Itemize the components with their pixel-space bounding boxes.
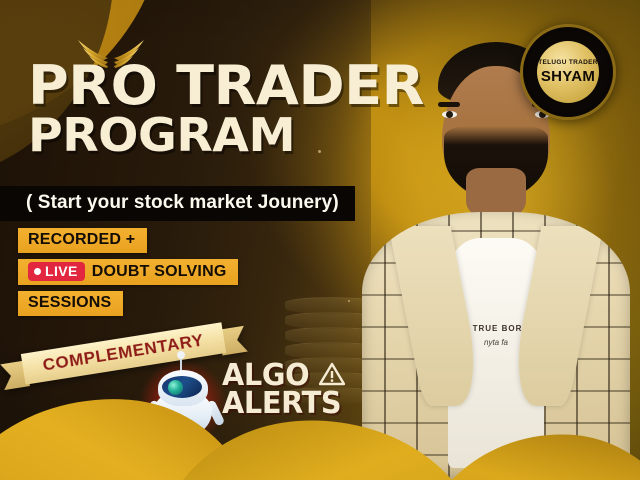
headline-block: PRO TRADER PROGRAM [28, 62, 412, 155]
subtitle-bar: ( Start your stock market Jounery) [0, 186, 355, 221]
badge-row: LIVE DOUBT SOLVING [18, 259, 238, 291]
robot-visor [162, 376, 202, 398]
badge-label: SESSIONS [28, 294, 111, 312]
badge-label: RECORDED + [28, 231, 135, 249]
live-pill: LIVE [28, 262, 85, 281]
alerts-label: ALERTS [222, 390, 341, 418]
brand-logo-badge[interactable]: TELUGU TRADER SHYAM [520, 24, 616, 120]
algo-alerts-line-2: ALERTS [222, 390, 346, 418]
feature-badge-list: RECORDED + LIVE DOUBT SOLVING SESSIONS [18, 228, 238, 322]
live-dot-icon [34, 268, 41, 275]
algo-alerts-block: ALGO ALERTS [222, 362, 346, 417]
logo-main-text: SHYAM [541, 69, 595, 84]
robot-eye [168, 380, 183, 395]
robot-head [158, 370, 208, 406]
badge-row: SESSIONS [18, 291, 238, 322]
headline-line-2: PROGRAM [28, 115, 424, 155]
eye-left [442, 111, 457, 118]
eyebrow-left [438, 102, 460, 107]
tshirt-text-line2: nyta fa [484, 338, 508, 347]
tshirt-text-line1: A TRUE BORN [463, 324, 529, 333]
logo-inner-circle: TELUGU TRADER SHYAM [537, 41, 599, 103]
badge-live-doubt-solving[interactable]: LIVE DOUBT SOLVING [18, 259, 238, 285]
badge-row: RECORDED + [18, 228, 238, 259]
live-label: LIVE [45, 263, 78, 279]
badge-sessions[interactable]: SESSIONS [18, 291, 123, 316]
logo-top-text: TELUGU TRADER [538, 60, 598, 67]
headline-line-1: PRO TRADER [28, 62, 424, 110]
badge-recorded[interactable]: RECORDED + [18, 228, 147, 253]
promo-poster: A TRUE BORN nyta fa TELUGU TRADER SHYAM [0, 0, 640, 480]
badge-label: DOUBT SOLVING [92, 263, 227, 281]
neck [466, 168, 526, 218]
